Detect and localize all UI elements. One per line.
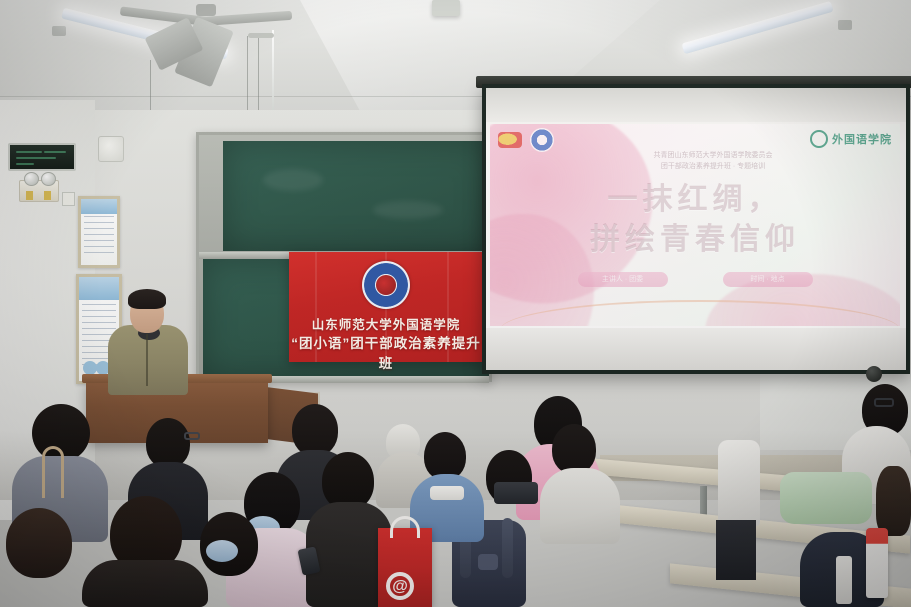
water-bottle[interactable] (866, 528, 888, 598)
slide-title-line-2: 拼绘青春信仰 (490, 220, 900, 260)
student-torso (718, 440, 760, 526)
student-torso (540, 468, 620, 544)
banner-line-2: “团小语”团干部政治素养提升班 (289, 332, 483, 372)
slide-title-line-1: 一抹红绸， (490, 180, 900, 220)
projection-screen: 外国语学院 共青团山东师范大学外国语学院委员会 团干部政治素养提升班 · 专题培… (482, 84, 910, 374)
tote-bag-handle (42, 446, 64, 498)
handbag (494, 482, 538, 504)
student-torso (82, 560, 208, 607)
gift-bag[interactable]: @ (378, 528, 432, 607)
slide-pill-right: 时间 · 地点 (723, 272, 813, 287)
student-head (876, 466, 911, 536)
slide-subtitle-line-1: 共青团山东师范大学外国语学院委员会 (618, 150, 808, 161)
screen-top-margin (486, 88, 906, 122)
classroom-photo: 山东师范大学外国语学院 “团小语”团干部政治素养提升班 外国语学院 共青团山东师… (0, 0, 911, 607)
paper-cup (430, 486, 464, 500)
draped-jacket (780, 472, 872, 524)
light-switch[interactable] (62, 192, 75, 206)
screen-bottom-margin (486, 328, 906, 370)
projector-mount (248, 33, 274, 38)
university-emblem-icon (362, 261, 410, 309)
logo-ring-icon (810, 130, 828, 148)
student-head (552, 424, 596, 474)
university-badge-icon (530, 128, 554, 152)
banner-line-1: 山东师范大学外国语学院 (289, 314, 483, 333)
ceiling-projector (432, 0, 460, 16)
student-head (292, 404, 338, 456)
framed-notice-poster (78, 196, 120, 268)
emergency-lamp (19, 180, 59, 202)
bag-handle (390, 516, 420, 538)
logo-text: 外国语学院 (832, 131, 892, 147)
student-head (146, 418, 190, 468)
wall-speaker (98, 136, 124, 162)
slide-title: 一抹红绸， 拼绘青春信仰 (490, 180, 900, 260)
hair-scrunchie (206, 540, 238, 562)
presentation-slide: 外国语学院 共青团山东师范大学外国语学院委员会 团干部政治素养提升班 · 专题培… (490, 124, 900, 326)
eyeglasses (184, 432, 200, 440)
ceiling-fan-hub (196, 4, 216, 16)
blackboard-panel-upper (223, 141, 489, 251)
student-head (424, 432, 466, 480)
slide-pill-left: 主讲人 · 团委 (578, 272, 668, 287)
jacket-zipper (146, 334, 148, 386)
speaker-hair (128, 289, 166, 309)
slide-subtitle-line-2: 团干部政治素养提升班 · 专题培训 (618, 161, 808, 172)
fan-pull-cord[interactable] (272, 30, 274, 118)
student-head (6, 508, 72, 578)
school-of-foreign-languages-logo: 外国语学院 (810, 130, 892, 148)
at-symbol-icon: @ (386, 572, 414, 600)
screen-pull-weight[interactable] (866, 366, 882, 382)
slide-subtitle: 共青团山东师范大学外国语学院委员会 团干部政治素养提升班 · 专题培训 (618, 150, 808, 172)
communist-youth-league-emblem-icon (498, 132, 522, 148)
slide-pill-row: 主讲人 · 团委 时间 · 地点 (490, 272, 900, 287)
hanging-wire (247, 36, 248, 116)
light-mount (838, 20, 852, 30)
hanging-wire (258, 36, 259, 114)
light-mount (52, 26, 66, 36)
eyeglasses (874, 398, 894, 407)
student-legs (716, 520, 756, 580)
event-banner: 山东师范大学外国语学院 “团小语”团干部政治素养提升班 (289, 252, 483, 362)
wall-led-display (8, 143, 76, 171)
water-bottle[interactable] (836, 556, 852, 604)
